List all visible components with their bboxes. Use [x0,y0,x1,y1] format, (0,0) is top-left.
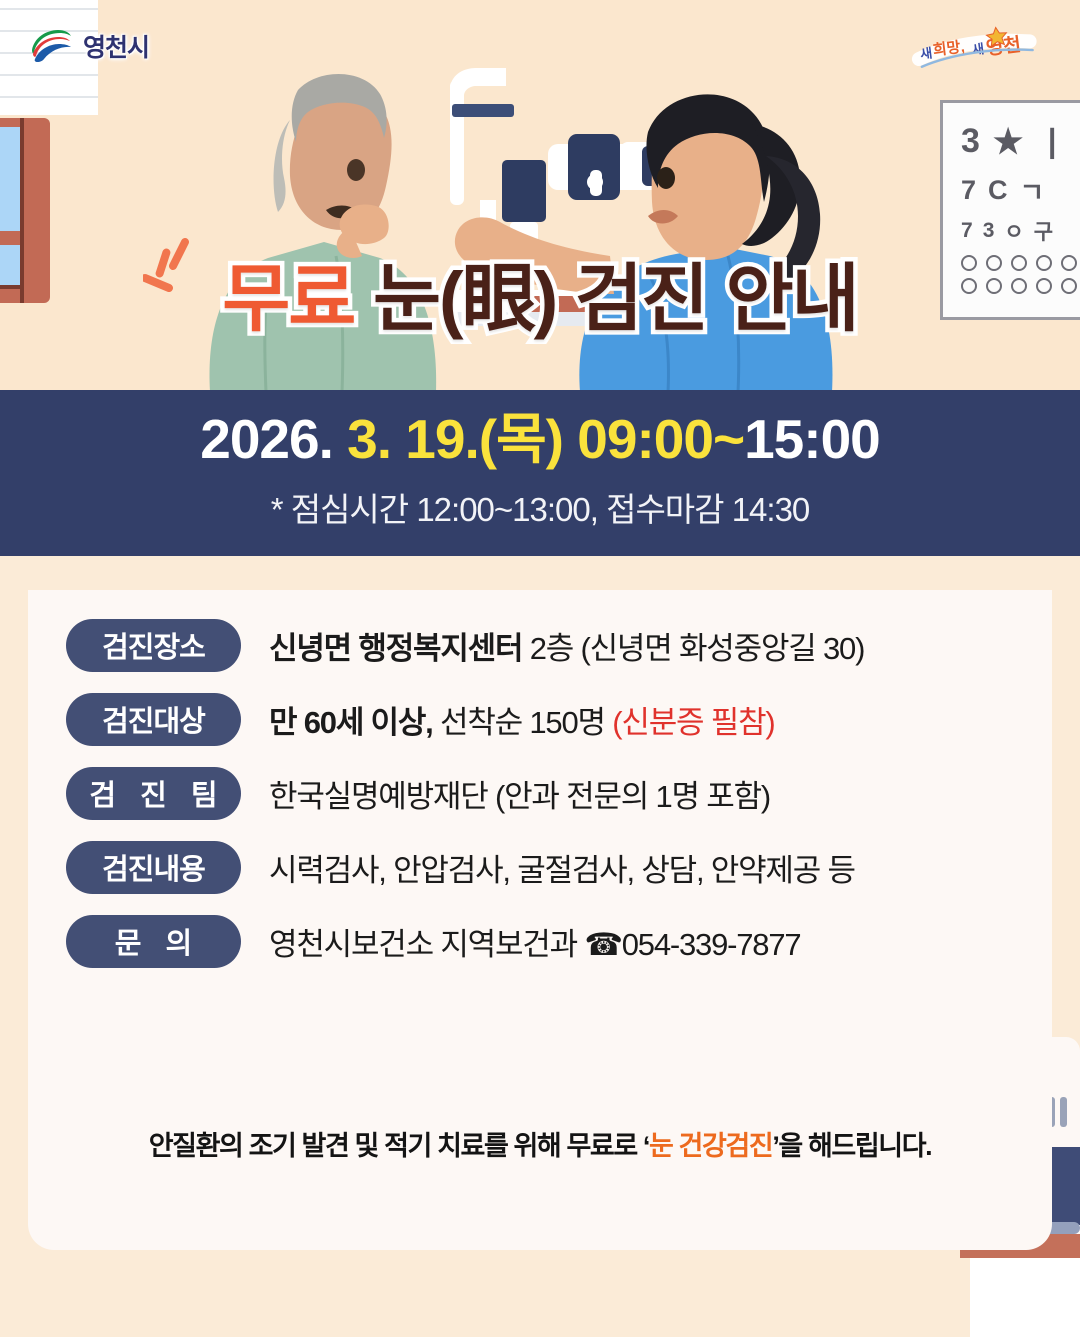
date-line: 2026. 3. 19.(목) 09:00~15:00 [0,412,1080,467]
location-name: 신녕면 행정복지센터 [269,631,522,666]
eye-chart-glyph: ㅇ [1004,216,1023,246]
city-logo: 영천시 [28,26,149,66]
eye-chart-glyph: 7 [961,175,976,206]
info-label-team: 검 진 팀 [66,767,241,820]
footer-highlight: 눈 건강검진 [649,1131,772,1161]
svg-text:새: 새 [971,41,985,57]
eye-chart-glyph: 7 [961,219,973,243]
footer-before: 안질환의 조기 발견 및 적기 치료를 위해 무료로 ‘ [149,1131,649,1161]
info-value-contact[interactable]: 영천시보건소 지역보건과 ☎054-339-7877 [269,919,800,964]
footer-after: ’을 해드립니다. [772,1131,931,1161]
date-year: 2026. [200,408,347,470]
info-label-contact: 문 의 [66,915,241,968]
eye-chart-glyph: C [988,175,1008,206]
date-time-end: 15:00 [744,408,880,470]
poster-root: 영천시 새 희망, 새 영천 3 ★ ㅣ 7 [0,0,1080,1337]
info-value-location: 신녕면 행정복지센터 2층 (신녕면 화성중앙길 30) [269,623,864,668]
info-row-team: 검 진 팀 한국실명예방재단 (안과 전문의 1명 포함) [66,756,1026,830]
info-value-target: 만 60세 이상, 선착순 150명 (신분증 필참) [269,697,775,742]
target-capacity: 선착순 150명 [433,705,613,740]
title-free-text: 무료 [222,257,354,340]
date-note: * 점심시간 12:00~13:00, 접수마감 14:30 [0,483,1080,531]
info-row-list: 검진장소 신녕면 행정복지센터 2층 (신녕면 화성중앙길 30) 검진대상 만… [66,608,1026,978]
eye-exam-illustration [150,60,870,392]
eye-chart-glyph: ★ [993,122,1023,162]
info-label-target: 검진대상 [66,693,241,746]
info-row-content: 검진내용 시력검사, 안압검사, 굴절검사, 상담, 안약제공 등 [66,830,1026,904]
eye-chart-glyph: 3 [961,122,980,161]
info-value-content: 시력검사, 안압검사, 굴절검사, 상담, 안약제공 등 [269,845,855,890]
footer-message: 안질환의 조기 발견 및 적기 치료를 위해 무료로 ‘눈 건강검진’을 해드립… [28,1124,1052,1163]
info-row-location: 검진장소 신녕면 행정복지센터 2층 (신녕면 화성중앙길 30) [66,608,1026,682]
date-highlight: 3. 19.(목) 09:00~ [347,408,744,470]
city-slogan-icon: 새 희망, 새 영천 [906,18,1046,76]
title-main-text: 눈(眼) 검진 안내 [354,257,857,340]
patient-figure [209,74,436,392]
svg-text:새: 새 [919,45,933,61]
info-row-target: 검진대상 만 60세 이상, 선착순 150명 (신분증 필참) [66,682,1026,756]
yeongcheon-city-emblem-icon [28,26,74,66]
date-banner: 2026. 3. 19.(목) 09:00~15:00 * 점심시간 12:00… [0,390,1080,556]
sparkle-icon [143,238,213,298]
info-value-team: 한국실명예방재단 (안과 전문의 1명 포함) [269,771,770,816]
eye-chart-glyph: 구 [1034,216,1053,246]
city-logo-text: 영천시 [83,28,149,64]
info-label-content: 검진내용 [66,841,241,894]
info-row-contact: 문 의 영천시보건소 지역보건과 ☎054-339-7877 [66,904,1026,978]
eye-chart-glyph: ㄱ [1020,171,1045,210]
location-detail: 2층 (신녕면 화성중앙길 30) [522,631,864,666]
target-age: 만 60세 이상, [269,705,433,740]
info-label-location: 검진장소 [66,619,241,672]
info-panel: 검진장소 신녕면 행정복지센터 2층 (신녕면 화성중앙길 30) 검진대상 만… [28,590,1052,1250]
eye-chart-glyph: 3 [983,219,995,243]
eye-chart-glyph: ㅣ [1036,117,1067,166]
target-id-required: (신분증 필참) [612,705,774,740]
